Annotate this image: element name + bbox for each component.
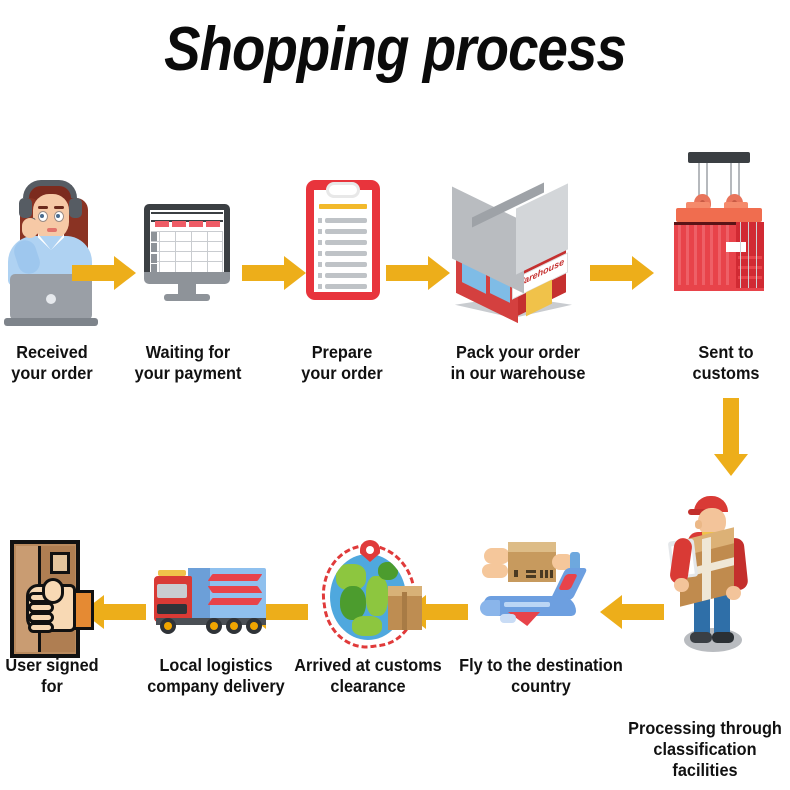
- step-sent-to-customs[interactable]: [664, 152, 776, 294]
- step-label-customs-clearance: Arrived at customs clearance: [282, 655, 453, 697]
- step-label-waiting-payment: Waiting for your payment: [125, 342, 251, 384]
- step-user-signed[interactable]: [2, 538, 98, 662]
- step-label-sent-to-customs: Sent to customs: [672, 342, 780, 384]
- arrow-1: [72, 256, 136, 290]
- delivery-truck-icon: [148, 556, 278, 648]
- arrow-2: [242, 256, 306, 290]
- monitor-spreadsheet-icon: [138, 198, 238, 308]
- step-label-prepare-order: Prepare your order: [290, 342, 394, 384]
- infographic-canvas: Shopping process Rec: [0, 0, 790, 790]
- page-title: Shopping process: [47, 14, 742, 85]
- step-label-pack-order: Pack your order in our warehouse: [438, 342, 598, 384]
- shipping-container-crane-icon: [664, 152, 776, 294]
- step-label-fly-destination: Fly to the destination country: [455, 655, 628, 697]
- customer-service-agent-icon: [2, 178, 100, 328]
- airplane-parcel-icon: [478, 538, 586, 638]
- arrow-6: [600, 595, 664, 629]
- step-pack-order[interactable]: Warehouse: [442, 192, 582, 328]
- step-customs-clearance[interactable]: [316, 540, 432, 652]
- step-prepare-order[interactable]: [298, 176, 388, 308]
- door-knock-hand-icon: [2, 538, 98, 662]
- step-received-order[interactable]: [2, 178, 100, 328]
- clipboard-checklist-icon: [298, 176, 388, 308]
- arrow-3: [386, 256, 450, 290]
- arrow-5: [714, 398, 748, 476]
- warehouse-building-icon: Warehouse: [442, 192, 582, 328]
- delivery-worker-parcel-icon: [650, 490, 770, 656]
- arrow-4: [590, 256, 654, 290]
- step-fly-destination[interactable]: [478, 538, 586, 638]
- step-processing[interactable]: [650, 490, 770, 656]
- globe-pin-parcel-icon: [316, 540, 432, 652]
- step-local-delivery[interactable]: [148, 556, 278, 648]
- step-label-processing: Processing through classification facili…: [626, 718, 784, 781]
- step-label-local-delivery: Local logistics company delivery: [132, 655, 299, 697]
- step-waiting-payment[interactable]: [138, 198, 238, 308]
- step-label-user-signed: User signed for: [4, 655, 101, 697]
- step-label-received-order: Received your order: [4, 342, 101, 384]
